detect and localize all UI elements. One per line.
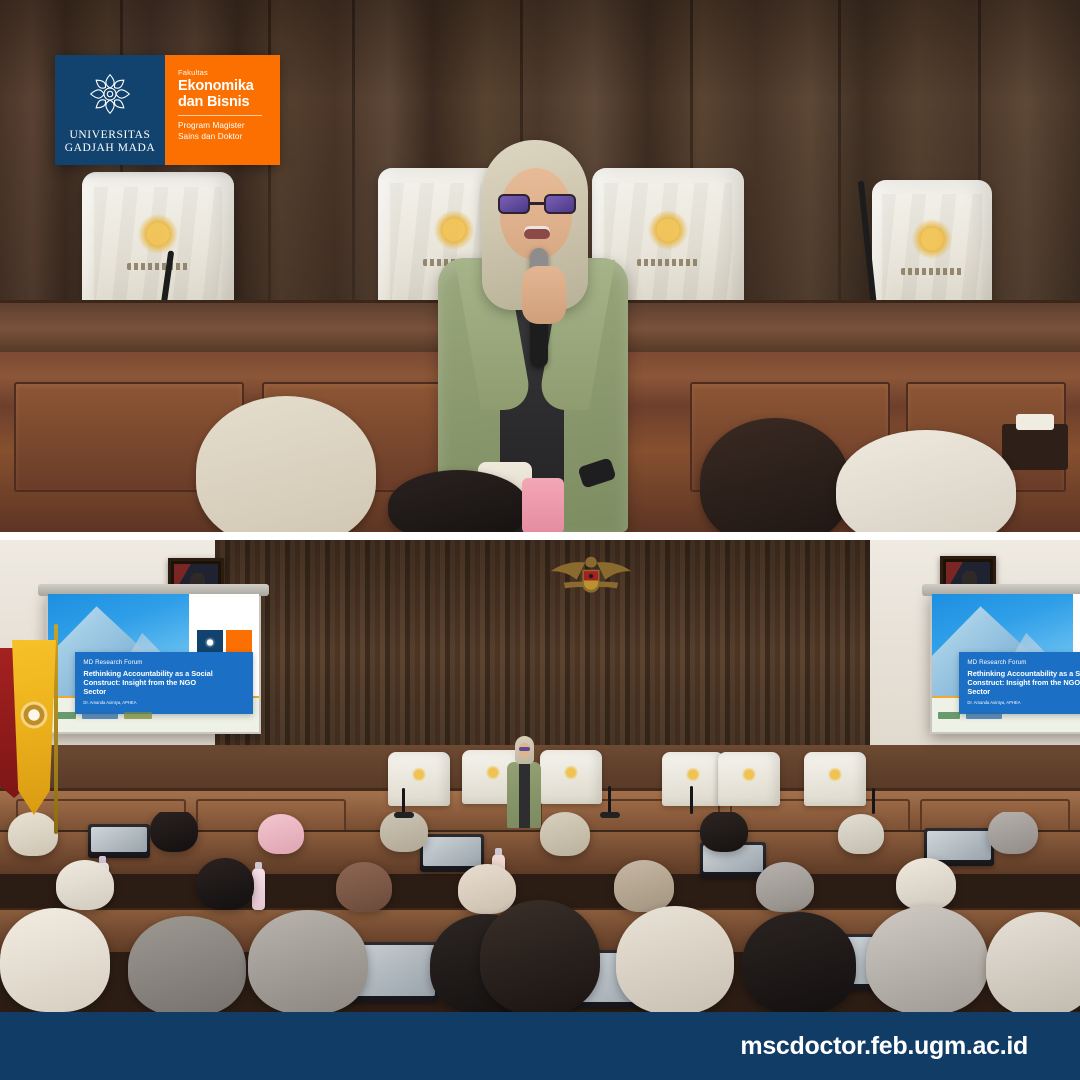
slide-title-line1: Rethinking Accountability as a Social [967,669,1080,678]
footer-bar: mscdoctor.feb.ugm.ac.id [0,1012,1080,1080]
speaker-hand [522,266,566,324]
slide-partner-logo [966,712,1002,719]
slide-title-line2: Construct: Insight from the NGO [83,678,244,687]
projection-screen-right: MD Research Forum Rethinking Accountabil… [930,592,1080,734]
audience-head [540,812,590,856]
faculty-name-line2: dan Bisnis [178,95,280,111]
photo-divider [0,532,1080,540]
slide-left: MD Research Forum Rethinking Accountabil… [48,594,259,732]
logo-lockup: UNIVERSITAS GADJAH MADA Fakultas Ekonomi… [55,55,280,165]
audience-head-foreground [616,906,734,1012]
slide-title-box: MD Research Forum Rethinking Accountabil… [75,652,252,714]
stage-speaker-figure [507,736,541,828]
stage-chair [718,752,780,806]
audience-head [380,812,428,852]
audience-head-foreground [480,900,600,1012]
speaker-inner-top [519,764,530,828]
desk-microphone-base [394,812,414,818]
tissue-box [1002,424,1068,470]
slide-eyebrow: MD Research Forum [967,659,1080,667]
slide-title-line2: Construct: Insight from the NGO [967,678,1080,687]
audience-head [838,814,884,854]
audience-head [988,812,1038,854]
desk-microphone-base [600,812,620,818]
faculty-label: Fakultas [178,68,280,77]
slide-title-box: MD Research Forum Rethinking Accountabil… [959,652,1080,714]
audience-head [258,814,304,854]
ugm-seal-icon [87,71,133,117]
laptop [88,824,150,858]
program-line2: Sains dan Doktor [178,132,280,143]
audience-head [8,812,58,856]
audience-head-foreground [0,908,110,1012]
website-url[interactable]: mscdoctor.feb.ugm.ac.id [740,1032,1028,1061]
audience-head [336,862,392,912]
audience-head [896,858,956,910]
audience-head-foreground [248,910,368,1012]
slide-right: MD Research Forum Rethinking Accountabil… [932,594,1080,732]
chair-crest-icon [135,211,181,257]
ugm-logo-block: UNIVERSITAS GADJAH MADA [55,55,165,165]
audience-head-foreground [388,470,528,532]
slide-author: Dr. Amanda Aointya, APHEA [967,700,1080,706]
audience-head [56,860,114,910]
desk-microphone [608,786,611,814]
desk-microphone [402,788,405,814]
speaker-face [500,168,572,260]
tissue [1016,414,1054,430]
audience-head-foreground [128,916,246,1012]
slide-title-line3: Sector [967,687,1080,696]
garuda-pancasila-emblem [548,552,634,596]
stage-chair [872,180,992,320]
audience-head [614,860,674,912]
desk-microphone [690,786,693,814]
slide-title-line1: Rethinking Accountability as a Social [83,669,244,678]
speaker-mouth [524,226,550,239]
faculty-name-line1: Ekonomika [178,79,280,95]
feb-logo-block: Fakultas Ekonomika dan Bisnis Program Ma… [165,55,280,165]
stage-chair [804,752,866,806]
chair-crest-icon [909,216,955,262]
bottom-photo: MD Research Forum Rethinking Accountabil… [0,540,1080,1012]
stage-chair [662,752,724,806]
audience-head [196,858,254,910]
logo-divider-rule [178,115,262,116]
slide-partner-logo [82,712,118,719]
slide-author: Dr. Amanda Aointya, APHEA [83,700,244,706]
slide-partner-logo [124,712,152,719]
stage-chair [540,750,602,804]
audience-head-foreground [866,906,988,1012]
audience-head [700,812,748,852]
phone-held-up [522,478,564,532]
speaker-glasses-icon [519,747,530,751]
slide-partner-logo [938,712,960,719]
ceremonial-flag-yellow [12,640,56,815]
chair-crest-icon [645,207,691,253]
projection-screen-left: MD Research Forum Rethinking Accountabil… [46,592,261,734]
audience-head [458,864,516,914]
desk-microphone [872,788,875,814]
audience-head-foreground [742,912,856,1012]
audience-head [150,812,198,852]
audience-head [756,862,814,912]
speaker-glasses-icon [498,194,576,214]
audience-area [0,812,1080,1012]
slide-eyebrow: MD Research Forum [83,659,244,667]
poster-root: UNIVERSITAS GADJAH MADA Fakultas Ekonomi… [0,0,1080,1080]
slide-title-line3: Sector [83,687,244,696]
ugm-logo-text: UNIVERSITAS GADJAH MADA [65,129,156,154]
program-line1: Program Magister [178,121,280,132]
stage-chair [388,752,450,806]
